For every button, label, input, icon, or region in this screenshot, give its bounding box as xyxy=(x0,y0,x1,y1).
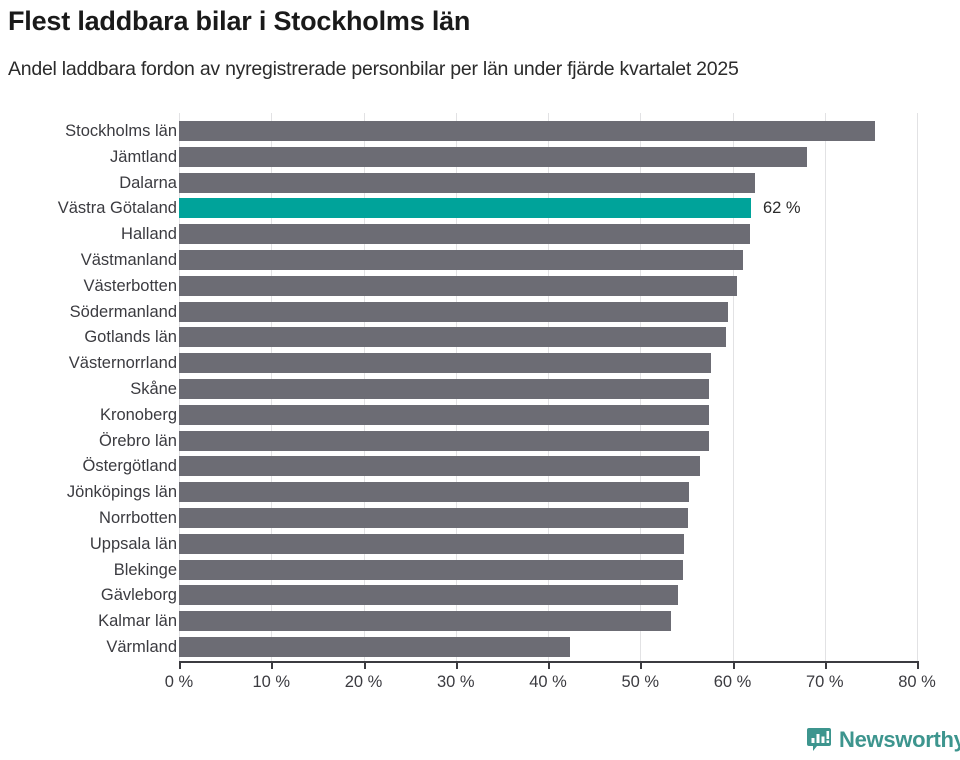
bar[interactable] xyxy=(179,431,709,451)
tick-mark xyxy=(364,661,366,669)
category-label: Dalarna xyxy=(0,173,177,193)
category-label: Blekinge xyxy=(0,560,177,580)
x-tick-label: 0 % xyxy=(165,673,193,692)
x-tick-label: 20 % xyxy=(345,673,383,692)
bar[interactable] xyxy=(179,456,700,476)
category-label: Skåne xyxy=(0,379,177,399)
bar[interactable] xyxy=(179,585,678,605)
category-label: Västra Götaland xyxy=(0,198,177,218)
category-label: Östergötland xyxy=(0,456,177,476)
bar-row[interactable]: Skåne xyxy=(0,376,960,402)
tick-mark xyxy=(640,661,642,669)
x-tick-label: 30 % xyxy=(437,673,475,692)
tick-mark xyxy=(917,661,919,669)
bar[interactable] xyxy=(179,173,755,193)
tick-mark xyxy=(733,661,735,669)
bar-highlighted[interactable] xyxy=(179,198,751,218)
bar[interactable] xyxy=(179,147,807,167)
bar[interactable] xyxy=(179,276,737,296)
tick-mark xyxy=(825,661,827,669)
x-tick-label: 10 % xyxy=(252,673,290,692)
category-label: Västmanland xyxy=(0,250,177,270)
category-label: Örebro län xyxy=(0,431,177,451)
chart-page: Flest laddbara bilar i Stockholms län An… xyxy=(0,0,960,760)
bar[interactable] xyxy=(179,508,688,528)
bar[interactable] xyxy=(179,224,750,244)
category-label: Stockholms län xyxy=(0,121,177,141)
bar[interactable] xyxy=(179,482,689,502)
bar-row[interactable]: Dalarna xyxy=(0,170,960,196)
x-tick-label: 70 % xyxy=(806,673,844,692)
x-tick-label: 40 % xyxy=(529,673,567,692)
tick-mark xyxy=(548,661,550,669)
newsworthy-logo[interactable]: Newsworthy xyxy=(806,727,960,753)
bar[interactable] xyxy=(179,327,726,347)
category-label: Jönköpings län xyxy=(0,482,177,502)
bar-row[interactable]: Värmland xyxy=(0,634,960,660)
chart-subtitle: Andel laddbara fordon av nyregistrerade … xyxy=(8,58,960,81)
bar-row[interactable]: Kalmar län xyxy=(0,608,960,634)
bar-row[interactable]: Blekinge xyxy=(0,557,960,583)
bar[interactable] xyxy=(179,534,684,554)
category-label: Uppsala län xyxy=(0,534,177,554)
x-tick-label: 50 % xyxy=(621,673,659,692)
category-label: Västerbotten xyxy=(0,276,177,296)
bar-row[interactable]: Halland xyxy=(0,221,960,247)
bar-row[interactable]: Jämtland xyxy=(0,144,960,170)
bar-row[interactable]: Västmanland xyxy=(0,247,960,273)
bar[interactable] xyxy=(179,250,743,270)
bar[interactable] xyxy=(179,121,875,141)
bar-row[interactable]: Norrbotten xyxy=(0,505,960,531)
bar-value-label: 62 % xyxy=(763,198,801,218)
bar[interactable] xyxy=(179,560,683,580)
category-label: Värmland xyxy=(0,637,177,657)
bar-chart-speech-bubble-icon xyxy=(806,727,832,753)
tick-mark xyxy=(456,661,458,669)
bar-row[interactable]: Kronoberg xyxy=(0,402,960,428)
bar-row[interactable]: Örebro län xyxy=(0,428,960,454)
bar-row[interactable]: Gotlands län xyxy=(0,324,960,350)
category-label: Halland xyxy=(0,224,177,244)
bar[interactable] xyxy=(179,302,728,322)
category-label: Västernorrland xyxy=(0,353,177,373)
bar[interactable] xyxy=(179,353,711,373)
tick-mark xyxy=(179,661,181,669)
bar-row[interactable]: Gävleborg xyxy=(0,582,960,608)
bar-row[interactable]: Västerbotten xyxy=(0,273,960,299)
logo-wordmark: Newsworthy xyxy=(839,727,960,753)
bar[interactable] xyxy=(179,611,671,631)
category-label: Kalmar län xyxy=(0,611,177,631)
page-title: Flest laddbara bilar i Stockholms län xyxy=(8,6,952,37)
bar-row[interactable]: Södermanland xyxy=(0,299,960,325)
bar-row[interactable]: Stockholms län xyxy=(0,118,960,144)
category-label: Södermanland xyxy=(0,302,177,322)
tick-mark xyxy=(271,661,273,669)
bar-row[interactable]: Västernorrland xyxy=(0,350,960,376)
bar-row[interactable]: Västra Götaland62 % xyxy=(0,195,960,221)
bar[interactable] xyxy=(179,637,570,657)
bar-row[interactable]: Jönköpings län xyxy=(0,479,960,505)
category-label: Kronoberg xyxy=(0,405,177,425)
bar-row[interactable]: Östergötland xyxy=(0,453,960,479)
bar-row[interactable]: Uppsala län xyxy=(0,531,960,557)
category-label: Norrbotten xyxy=(0,508,177,528)
category-label: Jämtland xyxy=(0,147,177,167)
x-tick-label: 60 % xyxy=(714,673,752,692)
bar[interactable] xyxy=(179,405,709,425)
bar[interactable] xyxy=(179,379,709,399)
category-label: Gävleborg xyxy=(0,585,177,605)
x-tick-label: 80 % xyxy=(898,673,936,692)
category-label: Gotlands län xyxy=(0,327,177,347)
